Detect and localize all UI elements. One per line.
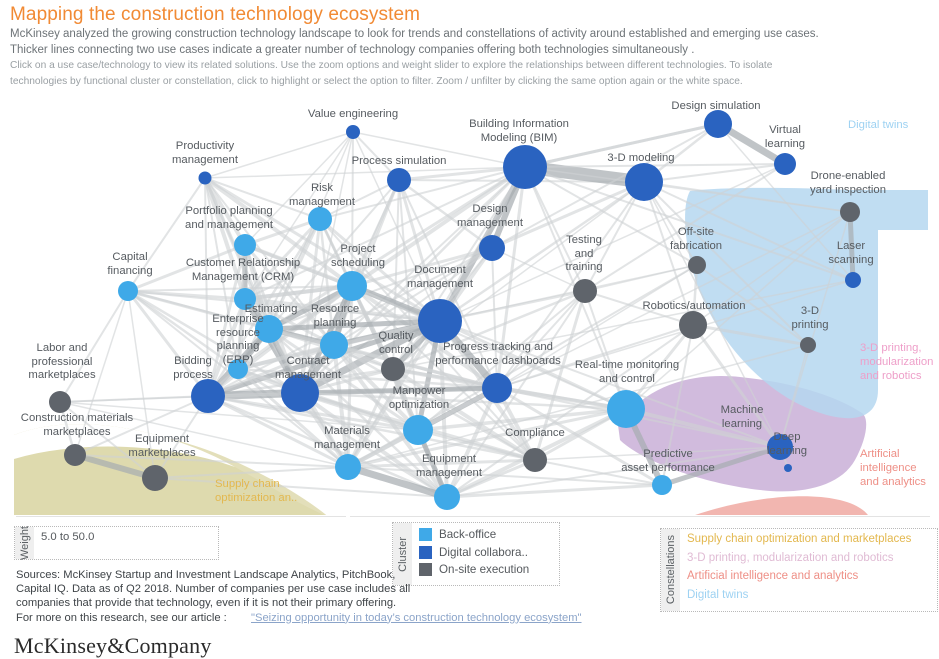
graph-edge bbox=[128, 178, 205, 291]
graph-node-document_management[interactable] bbox=[418, 299, 462, 343]
graph-node-three_d_printing[interactable] bbox=[800, 337, 816, 353]
constellation-legend-row[interactable]: Artificial intelligence and analytics bbox=[687, 567, 931, 586]
graph-node-predictive_asset[interactable] bbox=[652, 475, 672, 495]
graph-node-design_simulation[interactable] bbox=[704, 110, 732, 138]
divider-right bbox=[350, 516, 930, 517]
sources-line-1: Sources: McKinsey Startup and Investment… bbox=[16, 568, 636, 582]
cluster-tab-label: Cluster bbox=[397, 537, 409, 572]
graph-node-design_management[interactable] bbox=[479, 235, 505, 261]
graph-node-virtual_learning[interactable] bbox=[774, 153, 796, 175]
graph-node-off_site_fabrication[interactable] bbox=[688, 256, 706, 274]
constellation-legend-label: Supply chain optimization and marketplac… bbox=[687, 533, 911, 545]
constellation-overlay-label-1[interactable]: 3-D printing, modularization and robotic… bbox=[860, 341, 933, 383]
network-graph[interactable]: Value engineeringProductivity management… bbox=[0, 95, 939, 515]
divider-left bbox=[16, 516, 346, 517]
graph-node-three_d_modeling[interactable] bbox=[625, 163, 663, 201]
graph-node-bim[interactable] bbox=[503, 145, 547, 189]
constellation-legend-label: Artificial intelligence and analytics bbox=[687, 570, 858, 582]
cluster-legend-row[interactable]: Digital collabora.. bbox=[419, 544, 553, 562]
graph-node-estimating[interactable] bbox=[255, 315, 283, 343]
graph-node-capital_financing[interactable] bbox=[118, 281, 138, 301]
article-link[interactable]: "Seizing opportunity in today’s construc… bbox=[251, 612, 582, 624]
header: Mapping the construction technology ecos… bbox=[10, 4, 930, 89]
cluster-legend-row[interactable]: Back-office bbox=[419, 526, 553, 544]
graph-node-crm[interactable] bbox=[234, 288, 256, 310]
cluster-legend-label: Back-office bbox=[439, 528, 496, 541]
constellations-tab: Constellations bbox=[661, 529, 680, 611]
constellation-overlay-label-2[interactable]: Artificial intelligence and analytics bbox=[860, 447, 926, 489]
graph-edge bbox=[352, 132, 353, 286]
sources-line-4: For more on this research, see our artic… bbox=[16, 611, 636, 625]
graph-canvas[interactable] bbox=[0, 95, 939, 515]
constellations-tab-label: Constellations bbox=[665, 535, 677, 604]
graph-edge bbox=[447, 485, 662, 497]
article-prefix: For more on this research, see our artic… bbox=[16, 612, 227, 624]
graph-node-laser_scanning[interactable] bbox=[845, 272, 861, 288]
constellation-legend[interactable]: Constellations Supply chain optimization… bbox=[660, 528, 938, 612]
graph-edge bbox=[205, 178, 208, 396]
graph-edge bbox=[128, 291, 208, 396]
header-subtitle-1: McKinsey analyzed the growing constructi… bbox=[10, 27, 930, 43]
graph-edge bbox=[353, 132, 525, 167]
graph-node-equipment_management[interactable] bbox=[434, 484, 460, 510]
page-title: Mapping the construction technology ecos… bbox=[10, 4, 930, 26]
graph-node-erp[interactable] bbox=[228, 359, 248, 379]
graph-node-real_time_monitoring[interactable] bbox=[607, 390, 645, 428]
graph-node-machine_learning[interactable] bbox=[767, 434, 793, 460]
cluster-swatch-icon bbox=[419, 528, 432, 541]
graph-node-materials_management[interactable] bbox=[335, 454, 361, 480]
graph-node-drone_yard_inspection[interactable] bbox=[840, 202, 860, 222]
header-instructions-1: Click on a use case/technology to view i… bbox=[10, 58, 930, 74]
graph-edge bbox=[128, 245, 245, 291]
graph-node-quality_control[interactable] bbox=[381, 357, 405, 381]
weight-filter[interactable]: Weight 5.0 to 50.0 bbox=[14, 526, 219, 560]
graph-node-construction_materials[interactable] bbox=[64, 444, 86, 466]
ai-region[interactable] bbox=[598, 496, 878, 515]
graph-edge bbox=[320, 167, 525, 219]
constellation-overlay-label-3[interactable]: Supply chain optimization an.. bbox=[215, 477, 297, 505]
graph-edge bbox=[60, 291, 128, 402]
constellation-legend-row[interactable]: Supply chain optimization and marketplac… bbox=[687, 530, 931, 549]
graph-node-testing_training[interactable] bbox=[573, 279, 597, 303]
weight-value[interactable]: 5.0 to 50.0 bbox=[34, 527, 218, 543]
graph-node-deep_learning[interactable] bbox=[784, 464, 792, 472]
graph-node-compliance[interactable] bbox=[523, 448, 547, 472]
sources-block: Sources: McKinsey Startup and Investment… bbox=[16, 568, 636, 625]
constellation-legend-row[interactable]: Digital twins bbox=[687, 586, 931, 605]
sources-line-3: companies that provide that technology, … bbox=[16, 596, 636, 610]
graph-edge bbox=[850, 212, 853, 280]
weight-tab-label: Weight bbox=[19, 526, 31, 560]
cluster-legend-label: Digital collabora.. bbox=[439, 546, 528, 559]
graph-node-project_scheduling[interactable] bbox=[337, 271, 367, 301]
constellation-overlay-label-0[interactable]: Digital twins bbox=[848, 118, 908, 132]
graph-node-manpower_optimization[interactable] bbox=[403, 415, 433, 445]
graph-node-equipment_marketplaces[interactable] bbox=[142, 465, 168, 491]
graph-edge bbox=[300, 388, 497, 393]
header-instructions-2: technologies by functional cluster or co… bbox=[10, 74, 930, 90]
graph-node-labor_marketplaces[interactable] bbox=[49, 391, 71, 413]
graph-node-bidding_process[interactable] bbox=[191, 379, 225, 413]
graph-edge bbox=[644, 182, 693, 325]
sources-line-2: Capital IQ. Data as of Q2 2018. Number o… bbox=[16, 582, 636, 596]
constellation-legend-row[interactable]: 3-D printing, modularization and robotic… bbox=[687, 549, 931, 568]
graph-node-robotics_automation[interactable] bbox=[679, 311, 707, 339]
graph-node-contract_management[interactable] bbox=[281, 374, 319, 412]
graph-node-value_engineering[interactable] bbox=[346, 125, 360, 139]
constellation-legend-label: Digital twins bbox=[687, 589, 748, 601]
cluster-swatch-icon bbox=[419, 546, 432, 559]
graph-node-risk_management[interactable] bbox=[308, 207, 332, 231]
graph-node-progress_tracking[interactable] bbox=[482, 373, 512, 403]
graph-node-portfolio_planning[interactable] bbox=[234, 234, 256, 256]
weight-tab: Weight bbox=[15, 527, 34, 559]
graph-node-process_simulation[interactable] bbox=[387, 168, 411, 192]
mckinsey-logo: McKinsey&Company bbox=[14, 633, 212, 659]
graph-node-resource_planning[interactable] bbox=[320, 331, 348, 359]
graph-node-productivity_management[interactable] bbox=[199, 172, 212, 185]
constellation-legend-items[interactable]: Supply chain optimization and marketplac… bbox=[680, 529, 937, 607]
header-subtitle-2: Thicker lines connecting two use cases i… bbox=[10, 43, 930, 59]
constellation-legend-label: 3-D printing, modularization and robotic… bbox=[687, 552, 893, 564]
